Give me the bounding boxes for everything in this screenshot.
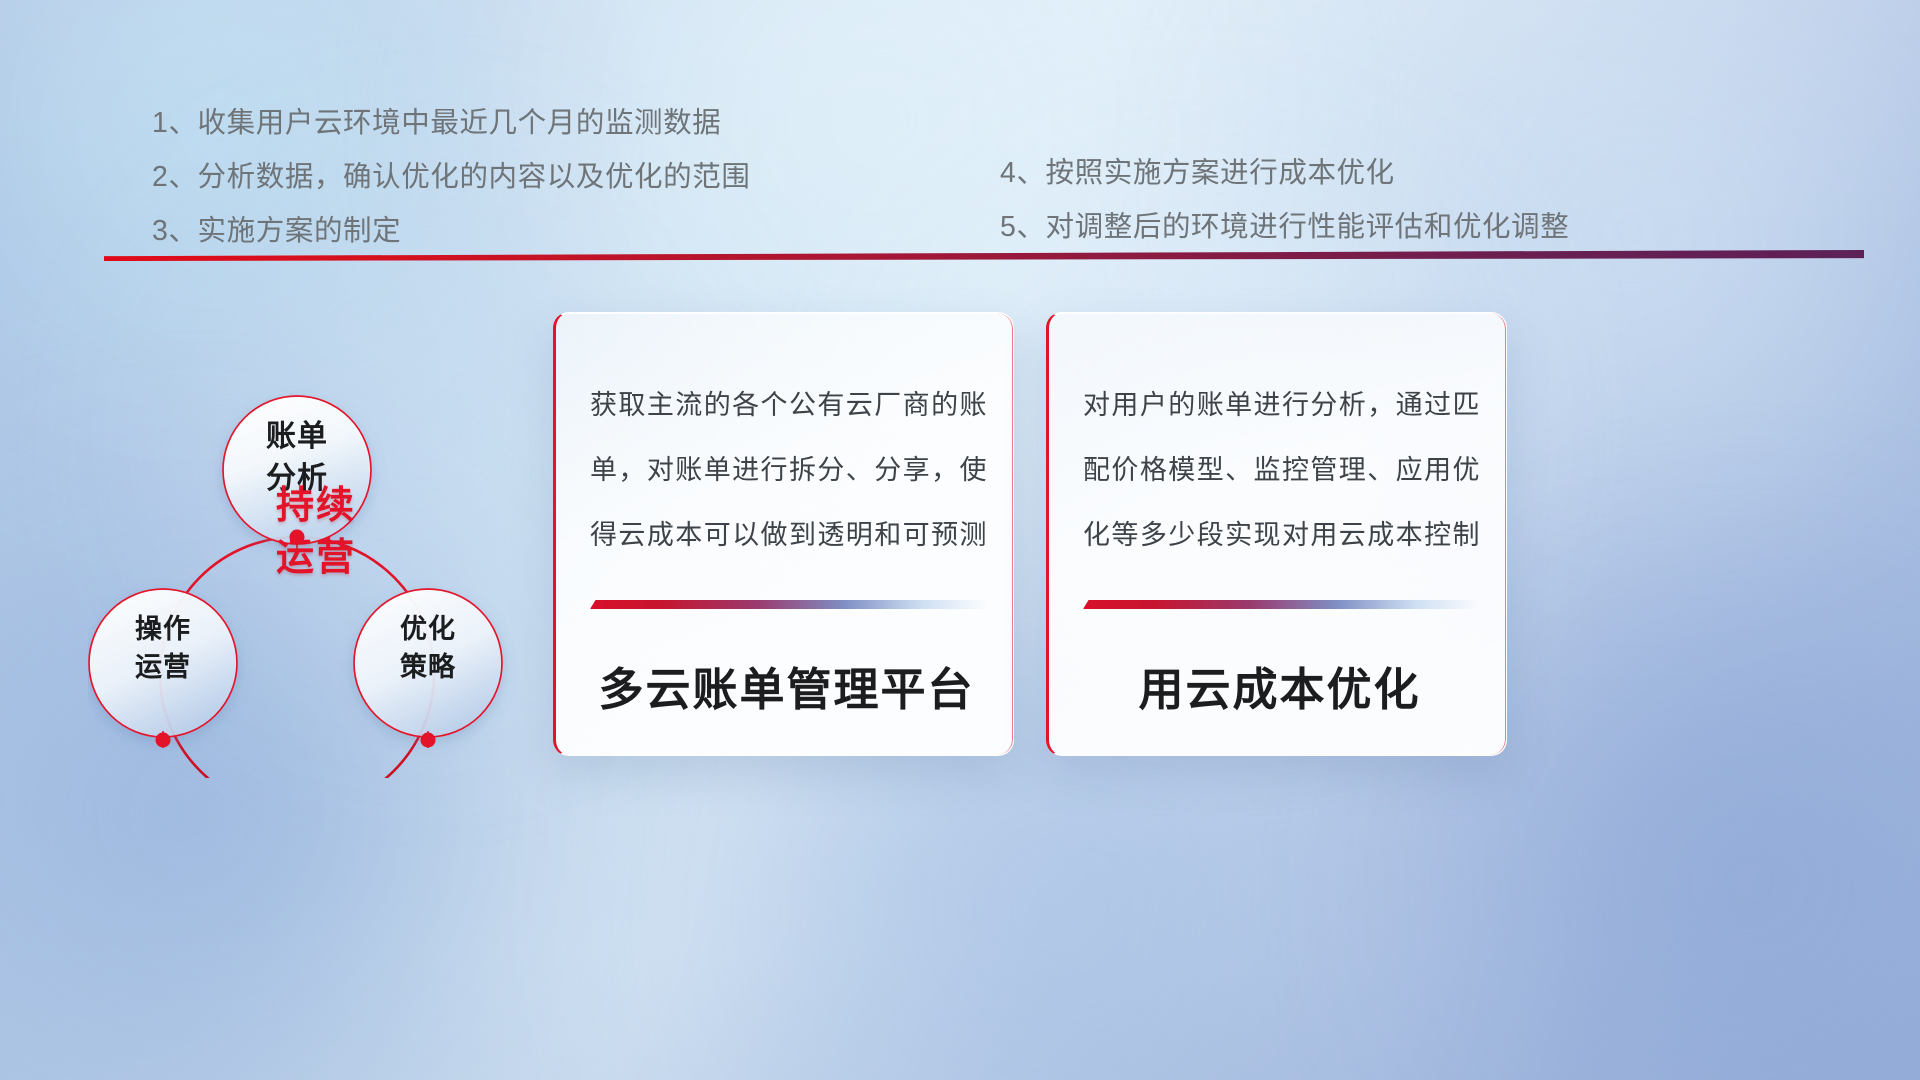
card-body-text: 对用户的账单进行分析，通过匹配价格模型、监控管理、应用优化等多少段实现对用云成本…: [1083, 373, 1480, 568]
venn-label-bottom-left-line2: 运营: [89, 648, 237, 686]
process-step-5: 5、对调整后的环境进行性能评估和优化调整: [1000, 200, 1569, 254]
process-step-4: 4、按照实施方案进行成本优化: [1000, 146, 1569, 200]
venn-label-bottom-left: 操作 运营: [89, 610, 237, 686]
card-cloud-cost-optimization[interactable]: 对用户的账单进行分析，通过匹配价格模型、监控管理、应用优化等多少段实现对用云成本…: [1046, 312, 1507, 756]
venn-label-bottom-right-line1: 优化: [354, 610, 502, 648]
card-body-text: 获取主流的各个公有云厂商的账单，对账单进行拆分、分享，使得云成本可以做到透明和可…: [590, 373, 987, 568]
process-steps-right-column: 4、按照实施方案进行成本优化 5、对调整后的环境进行性能评估和优化调整: [1000, 146, 1569, 254]
card-multi-cloud-billing[interactable]: 获取主流的各个公有云厂商的账单，对账单进行拆分、分享，使得云成本可以做到透明和可…: [553, 312, 1014, 756]
venn-center-label-line1: 持续: [236, 480, 396, 532]
card-title: 用云成本优化: [1079, 653, 1480, 718]
venn-diagram: 账单 分析 操作 运营 优化 策略 持续 运营: [88, 288, 558, 778]
process-step-1: 1、收集用户云环境中最近几个月的监测数据: [152, 96, 750, 150]
venn-node-dot-bottom-right: [421, 733, 436, 748]
section-divider: [104, 250, 1864, 261]
venn-label-bottom-right-line2: 策略: [354, 648, 502, 686]
section-divider-bar: [104, 250, 1864, 261]
venn-center-label-line2: 运营: [236, 532, 396, 584]
venn-label-bottom-right: 优化 策略: [354, 610, 502, 686]
process-steps-left-column: 1、收集用户云环境中最近几个月的监测数据 2、分析数据，确认优化的内容以及优化的…: [152, 96, 750, 258]
card-title: 多云账单管理平台: [586, 653, 987, 718]
process-steps: 1、收集用户云环境中最近几个月的监测数据 2、分析数据，确认优化的内容以及优化的…: [0, 0, 1920, 260]
venn-node-dot-bottom-left: [156, 733, 171, 748]
card-accent-rule: [590, 600, 987, 609]
venn-center-label: 持续 运营: [236, 480, 396, 584]
card-accent-rule: [1083, 600, 1480, 609]
venn-label-bottom-left-line1: 操作: [89, 610, 237, 648]
process-step-2: 2、分析数据，确认优化的内容以及优化的范围: [152, 150, 750, 204]
venn-label-top-line1: 账单: [223, 416, 371, 458]
